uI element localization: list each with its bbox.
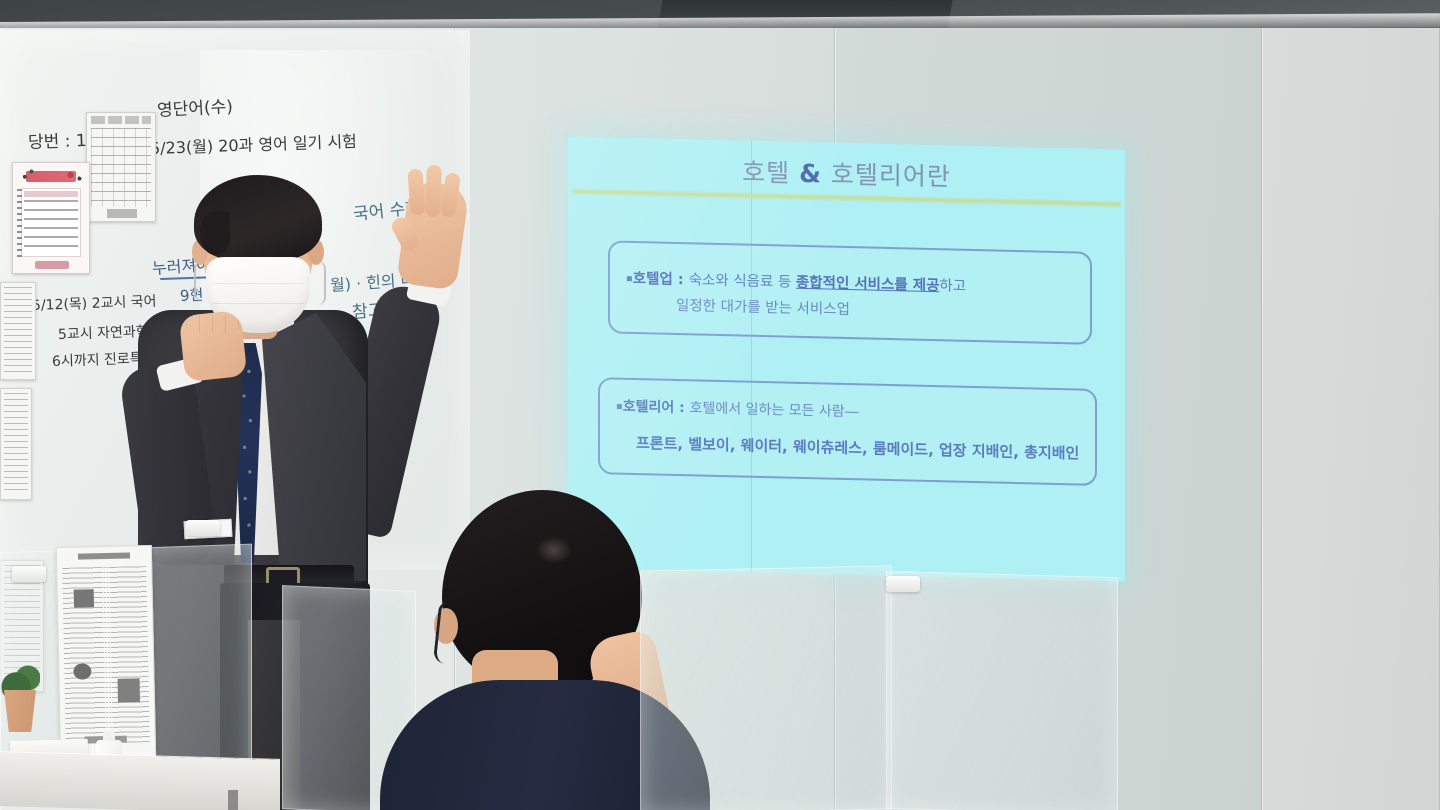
student-mask-strap (433, 601, 464, 665)
bullet-plain-after: 하고 (939, 278, 966, 295)
acrylic-divider-right (886, 571, 1118, 810)
student-hair-crown (536, 536, 572, 564)
paper-lines (4, 287, 32, 375)
bullet-hotel-business-line2: 일정한 대가를 받는 서비스업 (676, 294, 850, 319)
slide-title-before: 호텔 (742, 158, 799, 188)
bullet-marker: ▪ (626, 273, 633, 284)
presenter-hair (194, 175, 322, 261)
divider-clip-1 (12, 566, 46, 582)
handout-title-band (78, 552, 130, 559)
desk-leg (228, 790, 238, 810)
presenter-finger-2 (425, 165, 442, 217)
poster-decoration-right (64, 166, 86, 184)
poster-footer-band (35, 261, 69, 269)
presenter-mask-strap-right (306, 261, 326, 305)
slide-title-ampersand: & (799, 159, 822, 189)
bullet-marker: ▪ (616, 401, 623, 412)
wall-paper-1 (0, 282, 36, 380)
presenter-finger-1 (407, 169, 425, 216)
bullet-lead-label: 호텔업 : (633, 271, 689, 288)
monthly-schedule-poster (12, 162, 90, 274)
slide-box-hotelier: ▪호텔리어 : 호텔에서 일하는 모든 사람― 프론트, 벨보이, 웨이터, 웨… (598, 377, 1097, 486)
divider-clip-2 (186, 520, 220, 536)
poster-decoration-left (16, 166, 38, 184)
poster-table (21, 188, 81, 257)
bullet-lead-label: 호텔리어 : (623, 399, 690, 417)
poster-table-header (24, 191, 78, 197)
paper-lines (4, 393, 28, 495)
presenter-knuckles (186, 315, 240, 333)
handout-image-3 (118, 678, 140, 702)
bullet-hotelier-roles: 프론트, 벨보이, 웨이터, 웨이츄레스, 룸메이드, 업장 지배인, 총지배인 (636, 432, 1079, 463)
whiteboard-note-vocabulary: 영단어(수) (156, 92, 233, 121)
bullet-rest-text: 호텔에서 일하는 모든 사람― (690, 400, 859, 420)
bullet-hotelier-line1: ▪호텔리어 : 호텔에서 일하는 모든 사람― (616, 396, 859, 422)
wall-paper-2 (0, 388, 32, 500)
slide-box-hotel-business: ▪호텔업 : 숙소와 식음료 등 종합적인 서비스를 제공하고 일정한 대가를 … (608, 240, 1092, 344)
divider-clip-3 (886, 576, 920, 592)
bullet-plain-before: 숙소와 식음료 등 (689, 272, 796, 291)
poster-table-rows (24, 200, 78, 254)
bullet-hotel-business-line1: ▪호텔업 : 숙소와 식음료 등 종합적인 서비스를 제공하고 (626, 267, 966, 296)
slide-title-after: 호텔리어란 (822, 159, 951, 191)
handout-image-1 (74, 589, 94, 607)
white-desk (0, 752, 280, 810)
whiteboard-note-duty: 당번 : 1 (28, 126, 87, 153)
bullet-underlined-text: 종합적인 서비스를 제공 (796, 275, 940, 294)
poster-spiral-binding (17, 189, 22, 257)
timetable-header (91, 116, 151, 124)
classroom-photo-scene: 당번 : 1 영단어(수) 5/23(월) 20과 영어 일기 시험 국어 수행… (0, 0, 1440, 810)
presenter-mask-strap-left (194, 261, 212, 301)
wall-panel-d (1262, 28, 1440, 810)
class-newsletter-handout (56, 545, 156, 761)
wall-seam-through-slide (751, 141, 752, 573)
acrylic-divider-middle (640, 565, 892, 810)
